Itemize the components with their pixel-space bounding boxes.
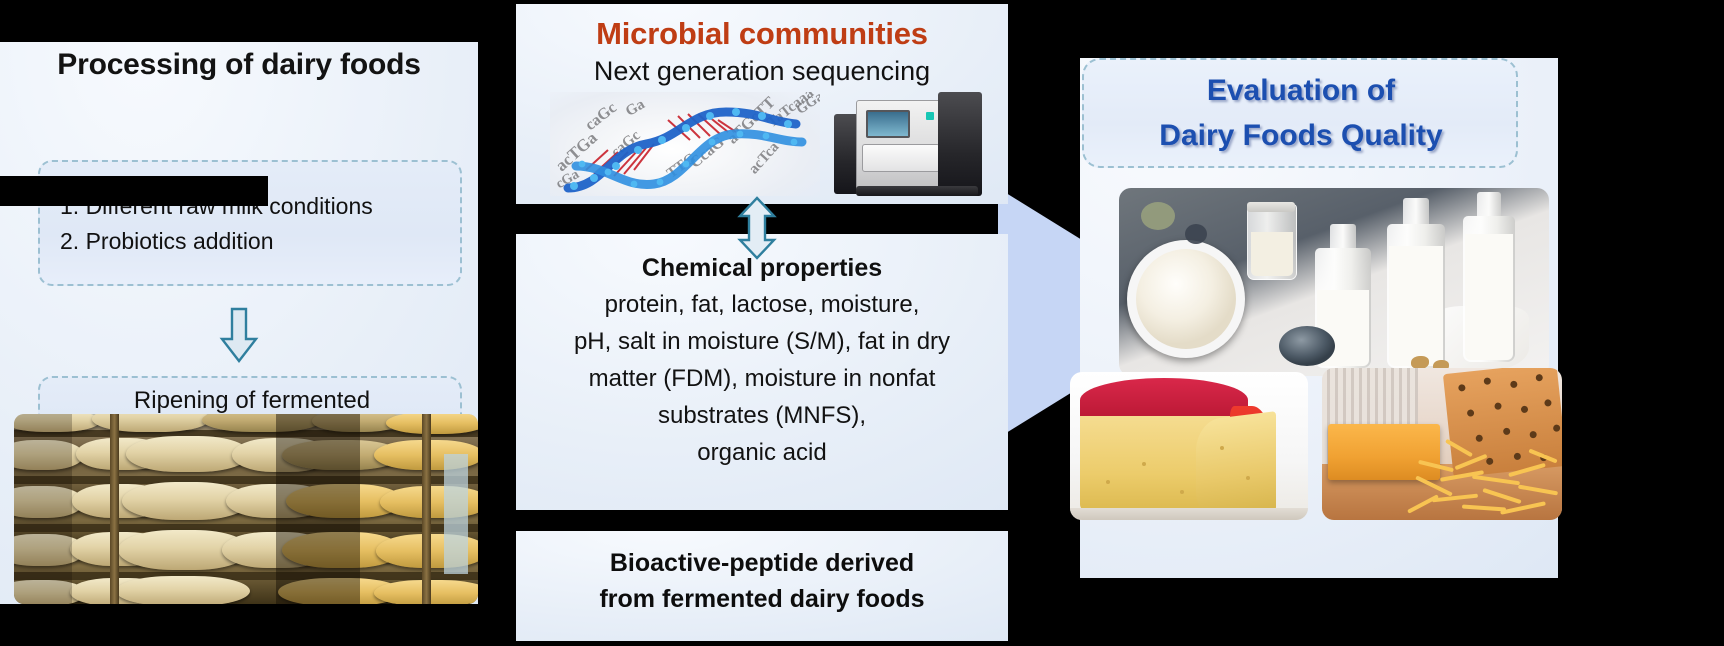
microbial-title: Microbial communities [516,16,1008,52]
cheese-aging-shelves-photo [14,414,478,604]
shredded-cheddar-cheese-photo [1322,368,1562,520]
microbial-communities-panel: Microbial communities Next generation se… [516,4,1008,204]
page-title: Processing of dairy foods [0,48,478,82]
list-item: 2. Probiotics addition [60,224,450,259]
infographic-canvas: Processing of dairy foods 1. Different r… [0,0,1724,646]
photo-bottom-mask [0,176,268,206]
dna-helix-icon: acTGa caGc Ga caGc TTG CcaG aTGcTT acTca… [550,92,820,196]
yogurt-and-milk-bottles-photo [1119,188,1549,376]
evaluation-title-box: Evaluation of Dairy Foods Quality [1082,58,1518,168]
up-down-arrow-icon [735,196,779,260]
sequencing-machine-icon [834,86,986,198]
microbial-subtitle: Next generation sequencing [516,56,1008,87]
bioactive-peptide-panel: Bioactive-peptide derived from fermented… [516,531,1008,641]
gouda-cheese-wheel-photo [1070,372,1308,520]
chemical-properties-body: protein, fat, lactose, moisture, pH, sal… [530,286,994,471]
chemical-properties-panel: Chemical properties protein, fat, lactos… [516,234,1008,510]
down-arrow-icon [219,307,259,363]
bioactive-peptide-label: Bioactive-peptide derived from fermented… [526,545,998,617]
evaluation-title: Evaluation of Dairy Foods Quality [1092,68,1510,158]
